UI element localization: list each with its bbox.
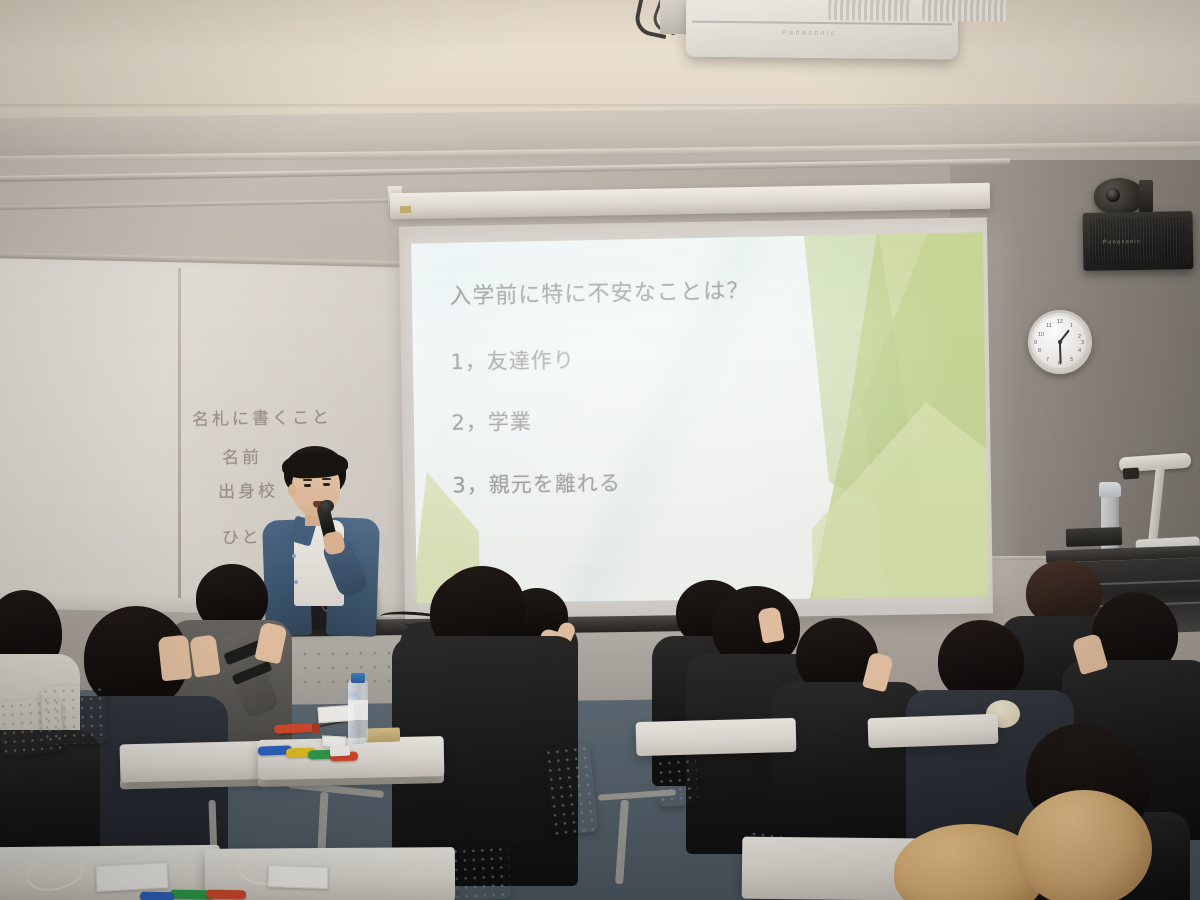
- slide-bullet-3: 3，親元を離れる: [452, 467, 621, 499]
- slide-title: 入学前に特に不安なことは？: [449, 273, 750, 311]
- bottle-label: [348, 700, 368, 720]
- clock-number-4: 4: [1078, 348, 1081, 354]
- marker-red-3[interactable]: [206, 890, 246, 900]
- torso: [772, 682, 922, 854]
- chair-back-center: [544, 744, 599, 836]
- marker-blue-2[interactable]: [140, 892, 174, 900]
- wall-speaker: Panasonic: [1083, 211, 1194, 271]
- whiteboard-eraser: [330, 745, 350, 756]
- student-hand-raised-left: [189, 634, 220, 677]
- student-hand-raised-front: [158, 635, 192, 682]
- jacket-button-2: [294, 580, 298, 584]
- clock-center-pin: [1058, 340, 1062, 344]
- presenter-ear: [288, 484, 296, 497]
- slide-bullet-2: 2，学業: [451, 406, 532, 437]
- projector-mount: [660, 0, 686, 34]
- presenter-brow-right: [322, 478, 331, 480]
- ceiling-projector: Panasonic: [686, 0, 959, 59]
- projector-vent-left: [828, 0, 912, 21]
- whiteboard-line-person: ひと: [222, 523, 262, 549]
- marker-red-cap: [312, 724, 320, 733]
- clock-number-5: 5: [1070, 357, 1073, 363]
- name-card-4: [268, 865, 329, 889]
- jacket-button-1: [292, 554, 296, 558]
- spray-bottle-trigger: [1099, 482, 1121, 497]
- bottle-cap: [351, 673, 365, 683]
- whiteboard-heading: 名札に書くこと: [192, 403, 332, 430]
- chair-back-left-2: [41, 685, 107, 745]
- table-mid-right: [636, 718, 797, 756]
- clock-number-3: 3: [1081, 340, 1084, 346]
- speaker-brand-label: Panasonic: [1103, 239, 1141, 246]
- clock-number-1: 1: [1070, 323, 1073, 329]
- document-camera-lens: [1123, 467, 1140, 479]
- projector-vent-right: [922, 0, 1006, 22]
- projector-brand-label: Panasonic: [782, 30, 837, 38]
- screen-housing-clip: [400, 206, 411, 213]
- ceiling: [0, 0, 1200, 120]
- projector-seam: [692, 21, 952, 26]
- wall-clock: 12 1 2 3 4 5 6 7 8 9 10 11: [1028, 310, 1092, 374]
- projected-slide: 入学前に特に不安なことは？ 1，友達作り 2，学業 3，親元を離れる: [411, 232, 989, 603]
- presenter-eye-left: [304, 484, 311, 487]
- clock-number-7: 7: [1046, 357, 1049, 363]
- plush-toy-right: [1016, 790, 1152, 900]
- clock-number-11: 11: [1046, 323, 1052, 329]
- clock-number-12: 12: [1057, 319, 1063, 325]
- clock-number-8: 8: [1038, 348, 1041, 354]
- whiteboard-line-name: 名前: [222, 443, 262, 469]
- chair-back-front-2: [451, 845, 512, 900]
- av-player-unit: [1066, 527, 1123, 547]
- wooden-box: [366, 727, 400, 742]
- camera-mount-arm: [1139, 180, 1153, 212]
- name-card-3: [95, 862, 168, 892]
- whiteboard-divider: [178, 268, 181, 598]
- camera-lens: [1106, 188, 1120, 202]
- clock-number-9: 9: [1034, 340, 1037, 346]
- presenter-brow-left: [303, 479, 312, 481]
- clock-number-10: 10: [1038, 332, 1044, 338]
- classroom-photo: 名札に書くこと 名前 出身校 ひと Panasonic 入学前に特に不安なことは…: [0, 0, 1200, 900]
- slide-bullet-1: 1，友達作り: [450, 344, 575, 376]
- table-right: [868, 714, 999, 749]
- presenter: [258, 446, 388, 636]
- presenter-eye-right: [323, 483, 330, 486]
